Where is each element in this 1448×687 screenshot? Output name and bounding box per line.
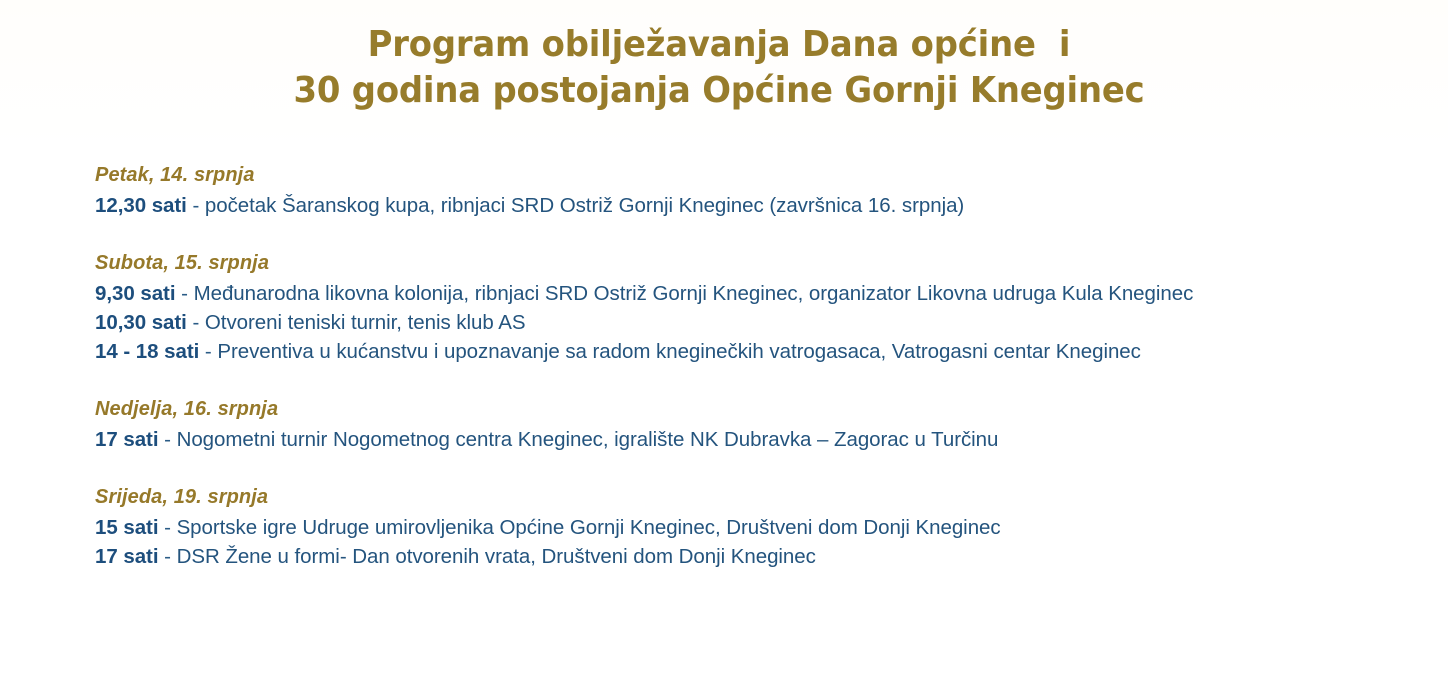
program-list: Petak, 14. srpnja12,30 sati - početak Ša… xyxy=(95,160,1325,571)
day-heading: Nedjelja, 16. srpnja xyxy=(95,394,1325,424)
entry-description: Sportske igre Udruge umirovljenika Općin… xyxy=(177,516,1001,539)
entry-description: Međunarodna likovna kolonija, ribnjaci S… xyxy=(194,282,1194,305)
day-group: Subota, 15. srpnja9,30 sati - Međunarodn… xyxy=(95,248,1325,366)
program-entry: 12,30 sati - početak Šaranskog kupa, rib… xyxy=(95,191,1315,220)
entry-separator: - xyxy=(158,545,176,568)
day-group: Srijeda, 19. srpnja15 sati - Sportske ig… xyxy=(95,482,1325,571)
program-entry: 17 sati - DSR Žene u formi- Dan otvoreni… xyxy=(95,542,1315,571)
day-group: Nedjelja, 16. srpnja17 sati - Nogometni … xyxy=(95,394,1325,454)
entry-separator: - xyxy=(175,282,193,305)
entry-time: 12,30 sati xyxy=(95,194,187,217)
entry-description: početak Šaranskog kupa, ribnjaci SRD Ost… xyxy=(205,194,964,217)
entry-separator: - xyxy=(158,516,176,539)
program-entry: 15 sati - Sportske igre Udruge umirovlje… xyxy=(95,513,1315,542)
day-heading: Petak, 14. srpnja xyxy=(95,160,1325,190)
entry-description: Otvoreni teniski turnir, tenis klub AS xyxy=(205,311,526,334)
day-group: Petak, 14. srpnja12,30 sati - početak Ša… xyxy=(95,160,1325,220)
entry-time: 10,30 sati xyxy=(95,311,187,334)
entry-separator: - xyxy=(187,311,205,334)
entry-time: 15 sati xyxy=(95,516,158,539)
title-line-2: 30 godina postojanja Općine Gornji Knegi… xyxy=(43,68,1395,114)
entry-description: Preventiva u kućanstvu i upoznavanje sa … xyxy=(217,340,1141,363)
program-entry: 17 sati - Nogometni turnir Nogometnog ce… xyxy=(95,425,1315,454)
entry-time: 14 - 18 sati xyxy=(95,340,199,363)
entry-time: 17 sati xyxy=(95,545,158,568)
entry-time: 9,30 sati xyxy=(95,282,175,305)
program-entry: 9,30 sati - Međunarodna likovna kolonija… xyxy=(95,279,1315,308)
entry-description: Nogometni turnir Nogometnog centra Knegi… xyxy=(177,428,999,451)
day-heading: Srijeda, 19. srpnja xyxy=(95,482,1325,512)
entry-time: 17 sati xyxy=(95,428,158,451)
entry-separator: - xyxy=(199,340,217,363)
entry-separator: - xyxy=(187,194,205,217)
entry-description: DSR Žene u formi- Dan otvorenih vrata, D… xyxy=(177,545,816,568)
program-entry: 14 - 18 sati - Preventiva u kućanstvu i … xyxy=(95,337,1315,366)
poster-canvas: Program obilježavanja Dana općine i 30 g… xyxy=(0,0,1448,687)
title-line-1: Program obilježavanja Dana općine i xyxy=(43,22,1395,68)
program-entry: 10,30 sati - Otvoreni teniski turnir, te… xyxy=(95,308,1315,337)
page-title: Program obilježavanja Dana općine i 30 g… xyxy=(0,22,1448,114)
entry-separator: - xyxy=(158,428,176,451)
day-heading: Subota, 15. srpnja xyxy=(95,248,1325,278)
